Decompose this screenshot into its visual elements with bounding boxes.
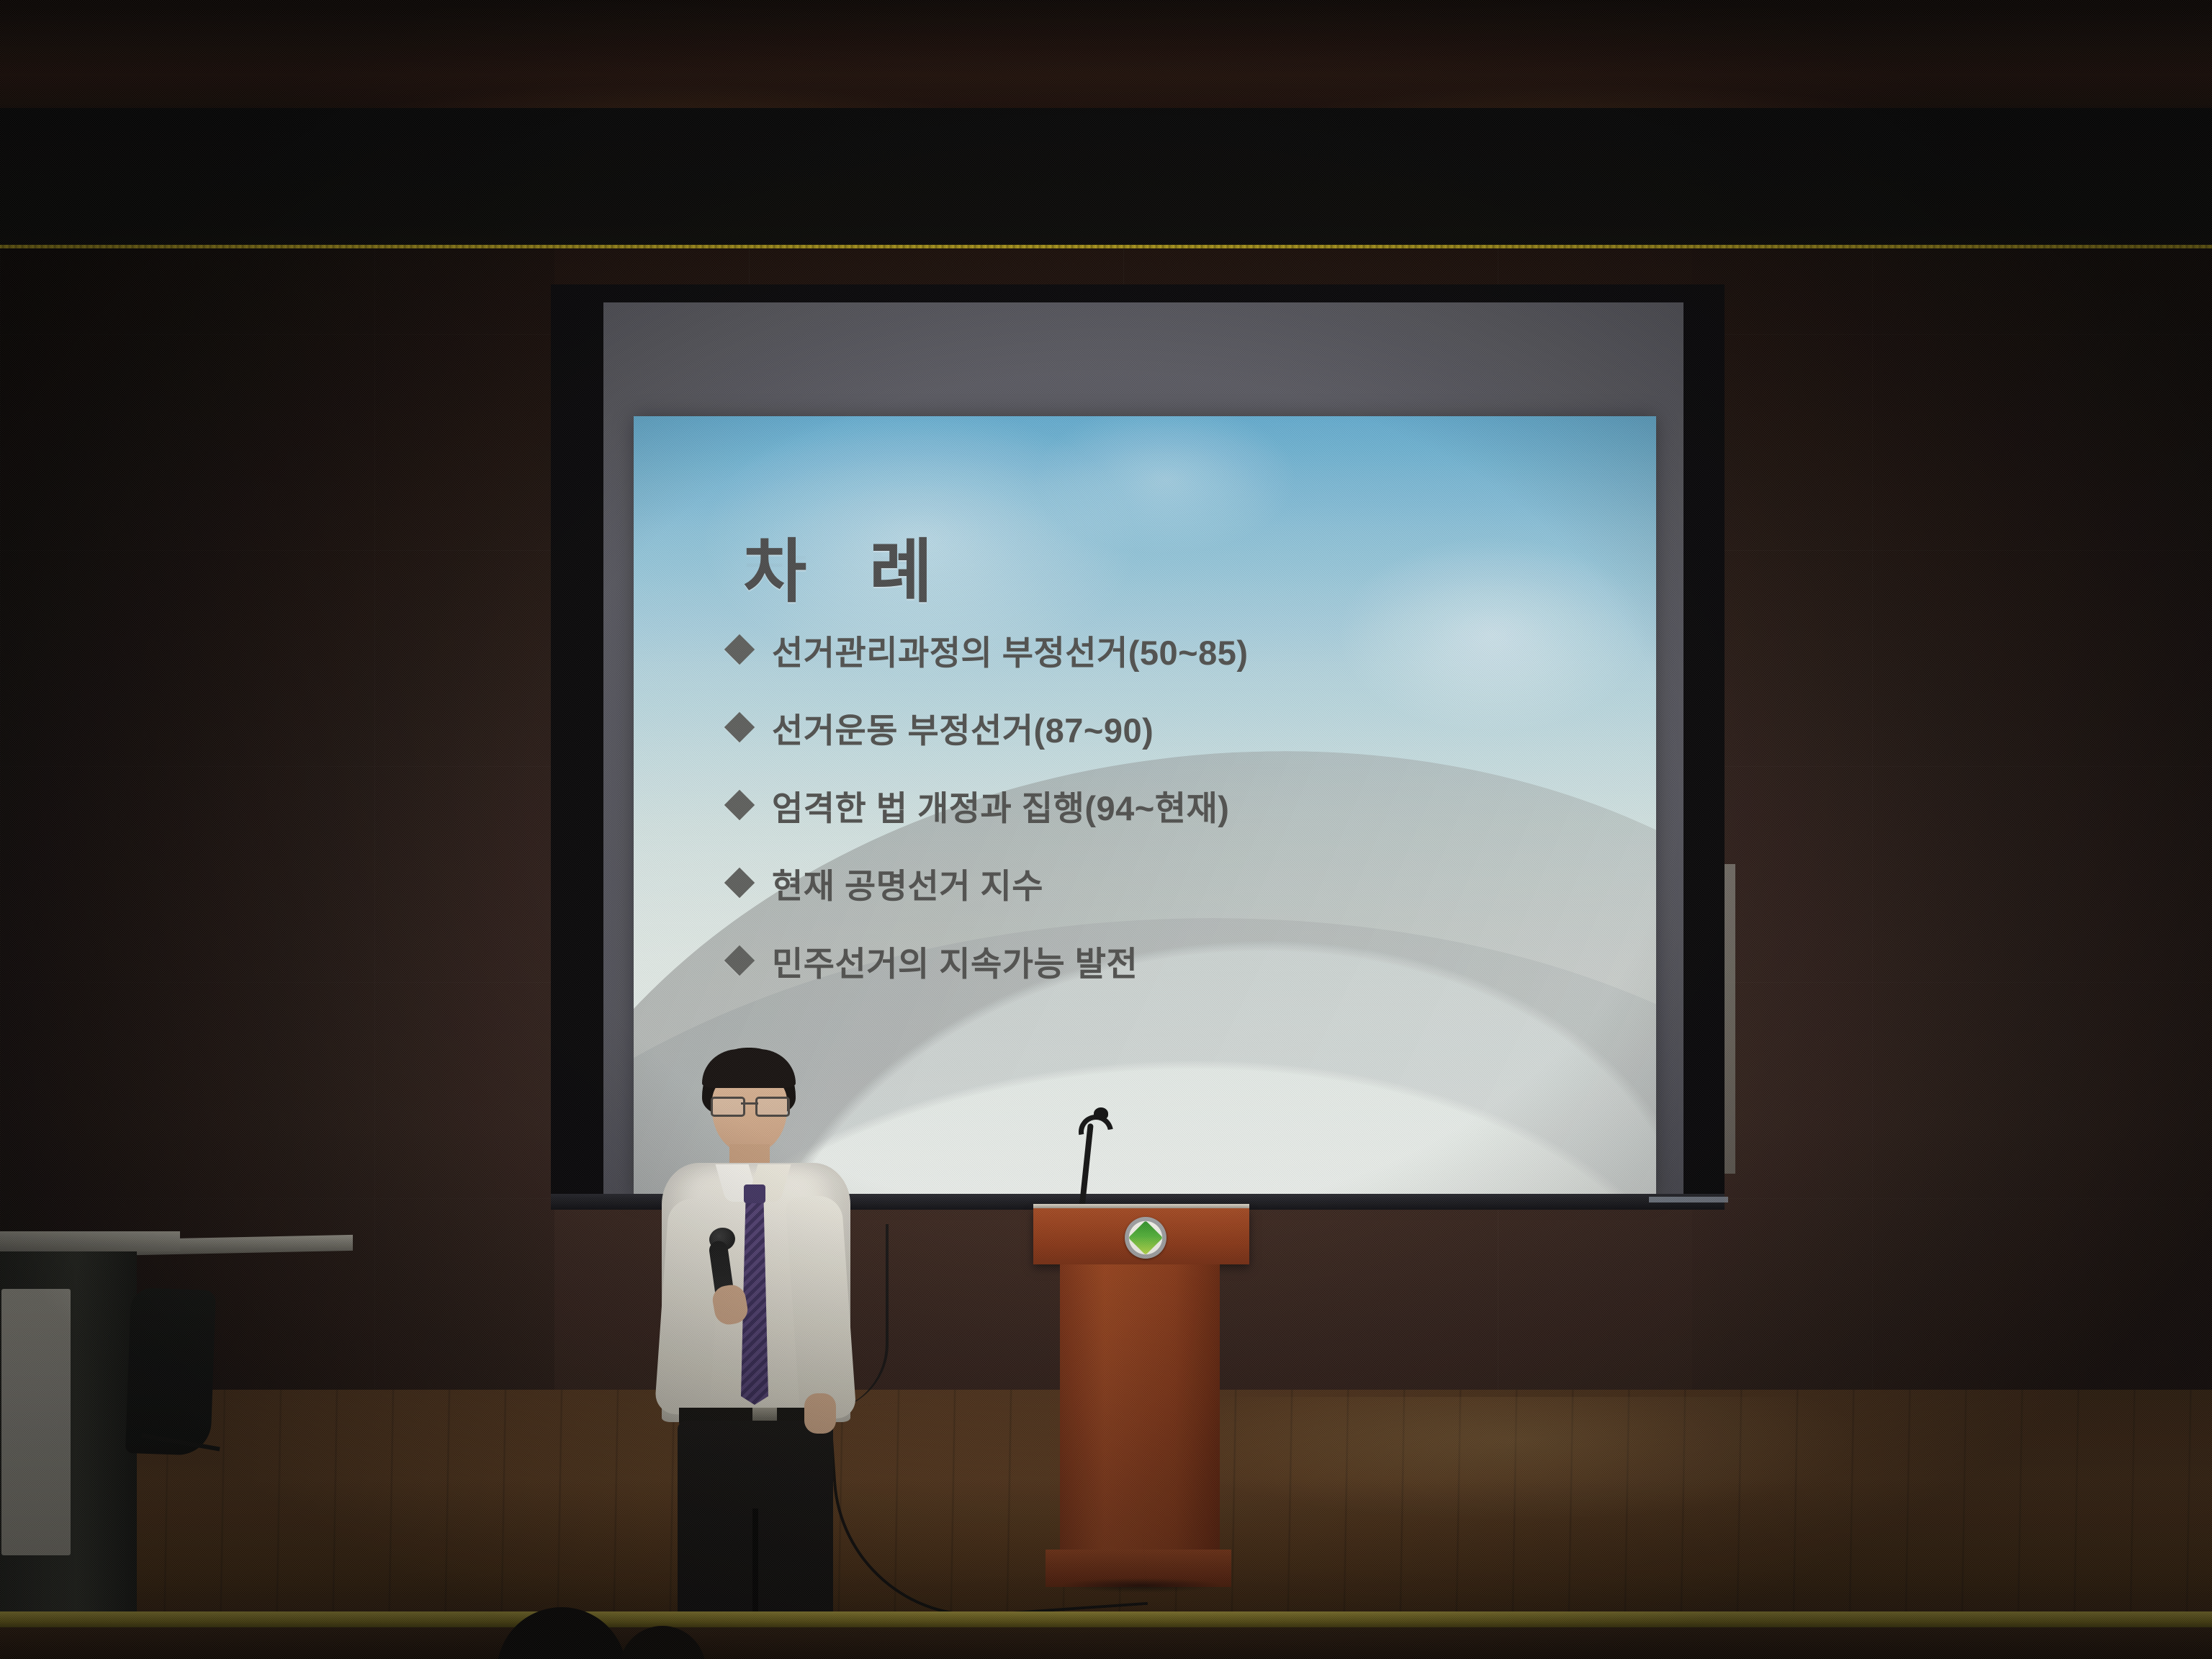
slide-bullet-text: 엄격한 법 개정과 집행(94~현재) <box>772 781 1229 830</box>
slide-bullet-item: 엄격한 법 개정과 집행(94~현재) <box>729 766 1593 844</box>
presenter-necktie-knot <box>744 1184 765 1203</box>
presenter-hand-right <box>804 1393 836 1434</box>
slide-bullet-text: 선거운동 부정선거(87~90) <box>772 703 1154 752</box>
diamond-bullet-icon <box>724 868 755 898</box>
slide-bullet-list: 선거관리과정의 부정선거(50~85) 선거운동 부정선거(87~90) 엄격한… <box>729 611 1593 999</box>
chair <box>125 1287 216 1456</box>
slide-bullet-item: 선거운동 부정선거(87~90) <box>729 688 1593 766</box>
slide-bullet-text: 현재 공명선거 지수 <box>772 858 1043 908</box>
wall-shadow-right <box>1692 248 2212 1415</box>
slide-title: 차 례 <box>743 516 954 616</box>
equipment-cabinet-top <box>0 1231 180 1251</box>
slide-bullet-item: 민주선거의 지속가능 발전 <box>729 922 1593 999</box>
slide-bullet-text: 선거관리과정의 부정선거(50~85) <box>772 625 1249 675</box>
cabinet-light-panel <box>1 1289 71 1555</box>
diamond-bullet-icon <box>724 790 755 820</box>
glasses-icon <box>711 1097 790 1112</box>
stage-apron <box>0 1627 2212 1659</box>
slide-bullet-text: 민주선거의 지속가능 발전 <box>772 936 1138 986</box>
slide-bullet-item: 선거관리과정의 부정선거(50~85) <box>729 611 1593 688</box>
gooseneck-microphone-head <box>1094 1107 1108 1120</box>
presenter <box>652 1048 860 1645</box>
diamond-bullet-icon <box>724 634 755 665</box>
diamond-bullet-icon <box>724 945 755 976</box>
diamond-bullet-icon <box>724 712 755 742</box>
auditorium-scene: 차 례 차 례 선거관리과정의 부정선거(50~85) 선거운동 부정선거(87… <box>0 0 2212 1659</box>
screen-bottom-highlight <box>1649 1197 1728 1202</box>
presenter-hair-front <box>702 1049 796 1088</box>
glasses-bridge <box>741 1102 758 1105</box>
slide-bullet-item: 현재 공명선거 지수 <box>729 844 1593 922</box>
emblem-leaf-icon <box>1128 1220 1163 1255</box>
institution-emblem <box>1125 1217 1166 1259</box>
